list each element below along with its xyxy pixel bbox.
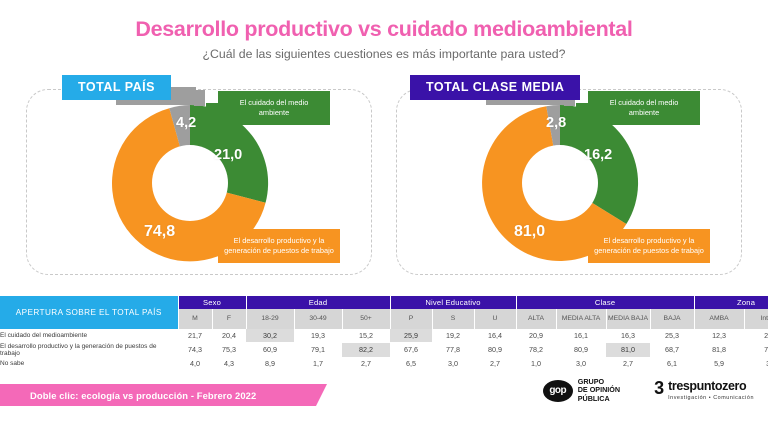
footer-band: Doble clic: ecología vs producción - Feb… bbox=[0, 384, 316, 406]
table-cell: 19,2 bbox=[432, 329, 474, 342]
callout-medio-ambiente: El cuidado del medio ambiente bbox=[588, 91, 700, 125]
table-cell: 5,9 bbox=[694, 357, 744, 370]
trespuntozero-logo-icon: 3 bbox=[654, 380, 664, 397]
table-cell: 16,3 bbox=[606, 329, 650, 342]
donut-value-orange: 74,8 bbox=[144, 223, 175, 241]
table-cell: 6,5 bbox=[390, 357, 432, 370]
column-header-interior: Interior bbox=[744, 309, 768, 329]
table-cell: 25,9 bbox=[390, 329, 432, 342]
column-header-s: S bbox=[432, 309, 474, 329]
donut-value-gray: 2,8 bbox=[546, 115, 566, 131]
table-cell: 12,3 bbox=[694, 329, 744, 342]
table-cell: 3,0 bbox=[556, 357, 606, 370]
table-cell: 67,6 bbox=[390, 342, 432, 357]
row-label: El cuidado del medioambiente bbox=[0, 329, 178, 342]
table-head: APERTURA SOBRE EL TOTAL PAÍS SexoEdadNiv… bbox=[0, 296, 768, 329]
table-cell: 16,4 bbox=[474, 329, 516, 342]
table-cell: 82,2 bbox=[342, 342, 390, 357]
column-header-m: M bbox=[178, 309, 212, 329]
column-header-u: U bbox=[474, 309, 516, 329]
page-subtitle: ¿Cuál de las siguientes cuestiones es má… bbox=[0, 42, 768, 61]
table-cell: 80,9 bbox=[556, 342, 606, 357]
trespuntozero-logo-text: trespuntozero Investigación • Comunicaci… bbox=[668, 380, 754, 401]
table-cell: 77,8 bbox=[432, 342, 474, 357]
group-header-clase: Clase bbox=[516, 296, 694, 309]
column-header-amba: AMBA bbox=[694, 309, 744, 329]
table-cell: 25,3 bbox=[650, 329, 694, 342]
chart-badge-clase-media: TOTAL CLASE MEDIA bbox=[410, 75, 580, 100]
table-cell: 74,3 bbox=[178, 342, 212, 357]
table-cell: 1,0 bbox=[516, 357, 556, 370]
table-cell: 3,0 bbox=[432, 357, 474, 370]
row-label: El desarrollo productivo y la generación… bbox=[0, 342, 178, 357]
column-header-50-: 50+ bbox=[342, 309, 390, 329]
footer-caption: Doble clic: ecología vs producción - Feb… bbox=[0, 390, 256, 401]
trespuntozero-tagline: Investigación • Comunicación bbox=[668, 393, 754, 401]
table-row: El cuidado del medioambiente21,720,430,2… bbox=[0, 329, 768, 342]
column-header-alta: ALTA bbox=[516, 309, 556, 329]
table-cell: 2,7 bbox=[474, 357, 516, 370]
trespuntozero-name: trespuntozero bbox=[668, 380, 754, 393]
chart-panel-total-pais: TOTAL PAÍS 21,0 74,8 4,2 No sabe El cuid… bbox=[18, 71, 380, 277]
group-header-zona: Zona bbox=[694, 296, 768, 309]
gop-logo-icon: gop bbox=[543, 380, 573, 402]
table-title-cell: APERTURA SOBRE EL TOTAL PAÍS bbox=[0, 296, 178, 329]
column-header-baja: BAJA bbox=[650, 309, 694, 329]
table-cell: 4,3 bbox=[212, 357, 246, 370]
charts-row: TOTAL PAÍS 21,0 74,8 4,2 No sabe El cuid… bbox=[0, 61, 768, 281]
donut-value-gray: 4,2 bbox=[176, 115, 196, 131]
column-header-f: F bbox=[212, 309, 246, 329]
table-cell: 20,4 bbox=[212, 329, 246, 342]
chart-badge-total-pais: TOTAL PAÍS bbox=[62, 75, 171, 100]
table-row: El desarrollo productivo y la generación… bbox=[0, 342, 768, 357]
table-cell: 75,3 bbox=[212, 342, 246, 357]
table-cell: 16,1 bbox=[556, 329, 606, 342]
chart-panel-clase-media: TOTAL CLASE MEDIA 16,2 81,0 2,8 No sabe … bbox=[388, 71, 750, 277]
column-header-30-49: 30-49 bbox=[294, 309, 342, 329]
table-cell: 8,9 bbox=[246, 357, 294, 370]
table-cell: 2,7 bbox=[342, 357, 390, 370]
gop-line-3: Pública bbox=[578, 395, 620, 403]
table-cell: 4,0 bbox=[178, 357, 212, 370]
footer-logos: gop Grupo de Opinión Pública 3 trespunto… bbox=[543, 378, 754, 403]
callout-desarrollo-productivo: El desarrollo productivo y la generación… bbox=[218, 229, 340, 263]
group-header-edad: Edad bbox=[246, 296, 390, 309]
donut-value-green: 21,0 bbox=[214, 147, 242, 163]
table-cell: 80,9 bbox=[474, 342, 516, 357]
table-cell: 25,4 bbox=[744, 329, 768, 342]
table-cell: 71,3 bbox=[744, 342, 768, 357]
table-cell: 1,7 bbox=[294, 357, 342, 370]
table-cell: 30,2 bbox=[246, 329, 294, 342]
table-body: El cuidado del medioambiente21,720,430,2… bbox=[0, 329, 768, 370]
table-cell: 79,1 bbox=[294, 342, 342, 357]
apertura-table: APERTURA SOBRE EL TOTAL PAÍS SexoEdadNiv… bbox=[0, 296, 768, 371]
group-header-nivel-educativo: Nivel Educativo bbox=[390, 296, 516, 309]
table-cell: 15,2 bbox=[342, 329, 390, 342]
callout-medio-ambiente: El cuidado del medio ambiente bbox=[218, 91, 330, 125]
table-cell: 81,0 bbox=[606, 342, 650, 357]
table-cell: 21,7 bbox=[178, 329, 212, 342]
data-table: APERTURA SOBRE EL TOTAL PAÍS SexoEdadNiv… bbox=[0, 296, 768, 371]
table-cell: 2,7 bbox=[606, 357, 650, 370]
table-cell: 19,3 bbox=[294, 329, 342, 342]
donut-value-green: 16,2 bbox=[584, 147, 612, 163]
logo-trespuntozero: 3 trespuntozero Investigación • Comunica… bbox=[654, 380, 754, 401]
column-header-18-29: 18-29 bbox=[246, 309, 294, 329]
table-cell: 68,7 bbox=[650, 342, 694, 357]
table-cell: 81,8 bbox=[694, 342, 744, 357]
logo-grupo-opinion-publica: gop Grupo de Opinión Pública bbox=[543, 378, 620, 403]
column-header-p: P bbox=[390, 309, 432, 329]
table-cell: 3,3 bbox=[744, 357, 768, 370]
callout-desarrollo-productivo: El desarrollo productivo y la generación… bbox=[588, 229, 710, 263]
gop-logo-text: Grupo de Opinión Pública bbox=[578, 378, 620, 403]
table-cell: 20,9 bbox=[516, 329, 556, 342]
table-row: No sabe4,04,38,91,72,76,53,02,71,03,02,7… bbox=[0, 357, 768, 370]
group-header-row: APERTURA SOBRE EL TOTAL PAÍS SexoEdadNiv… bbox=[0, 296, 768, 309]
column-header-media-alta: MEDIA ALTA bbox=[556, 309, 606, 329]
row-label: No sabe bbox=[0, 357, 178, 370]
donut-value-orange: 81,0 bbox=[514, 223, 545, 241]
column-header-media-baja: MEDIA BAJA bbox=[606, 309, 650, 329]
group-header-sexo: Sexo bbox=[178, 296, 246, 309]
table-cell: 6,1 bbox=[650, 357, 694, 370]
page-title: Desarrollo productivo vs cuidado medioam… bbox=[0, 0, 768, 42]
table-cell: 78,2 bbox=[516, 342, 556, 357]
table-cell: 60,9 bbox=[246, 342, 294, 357]
